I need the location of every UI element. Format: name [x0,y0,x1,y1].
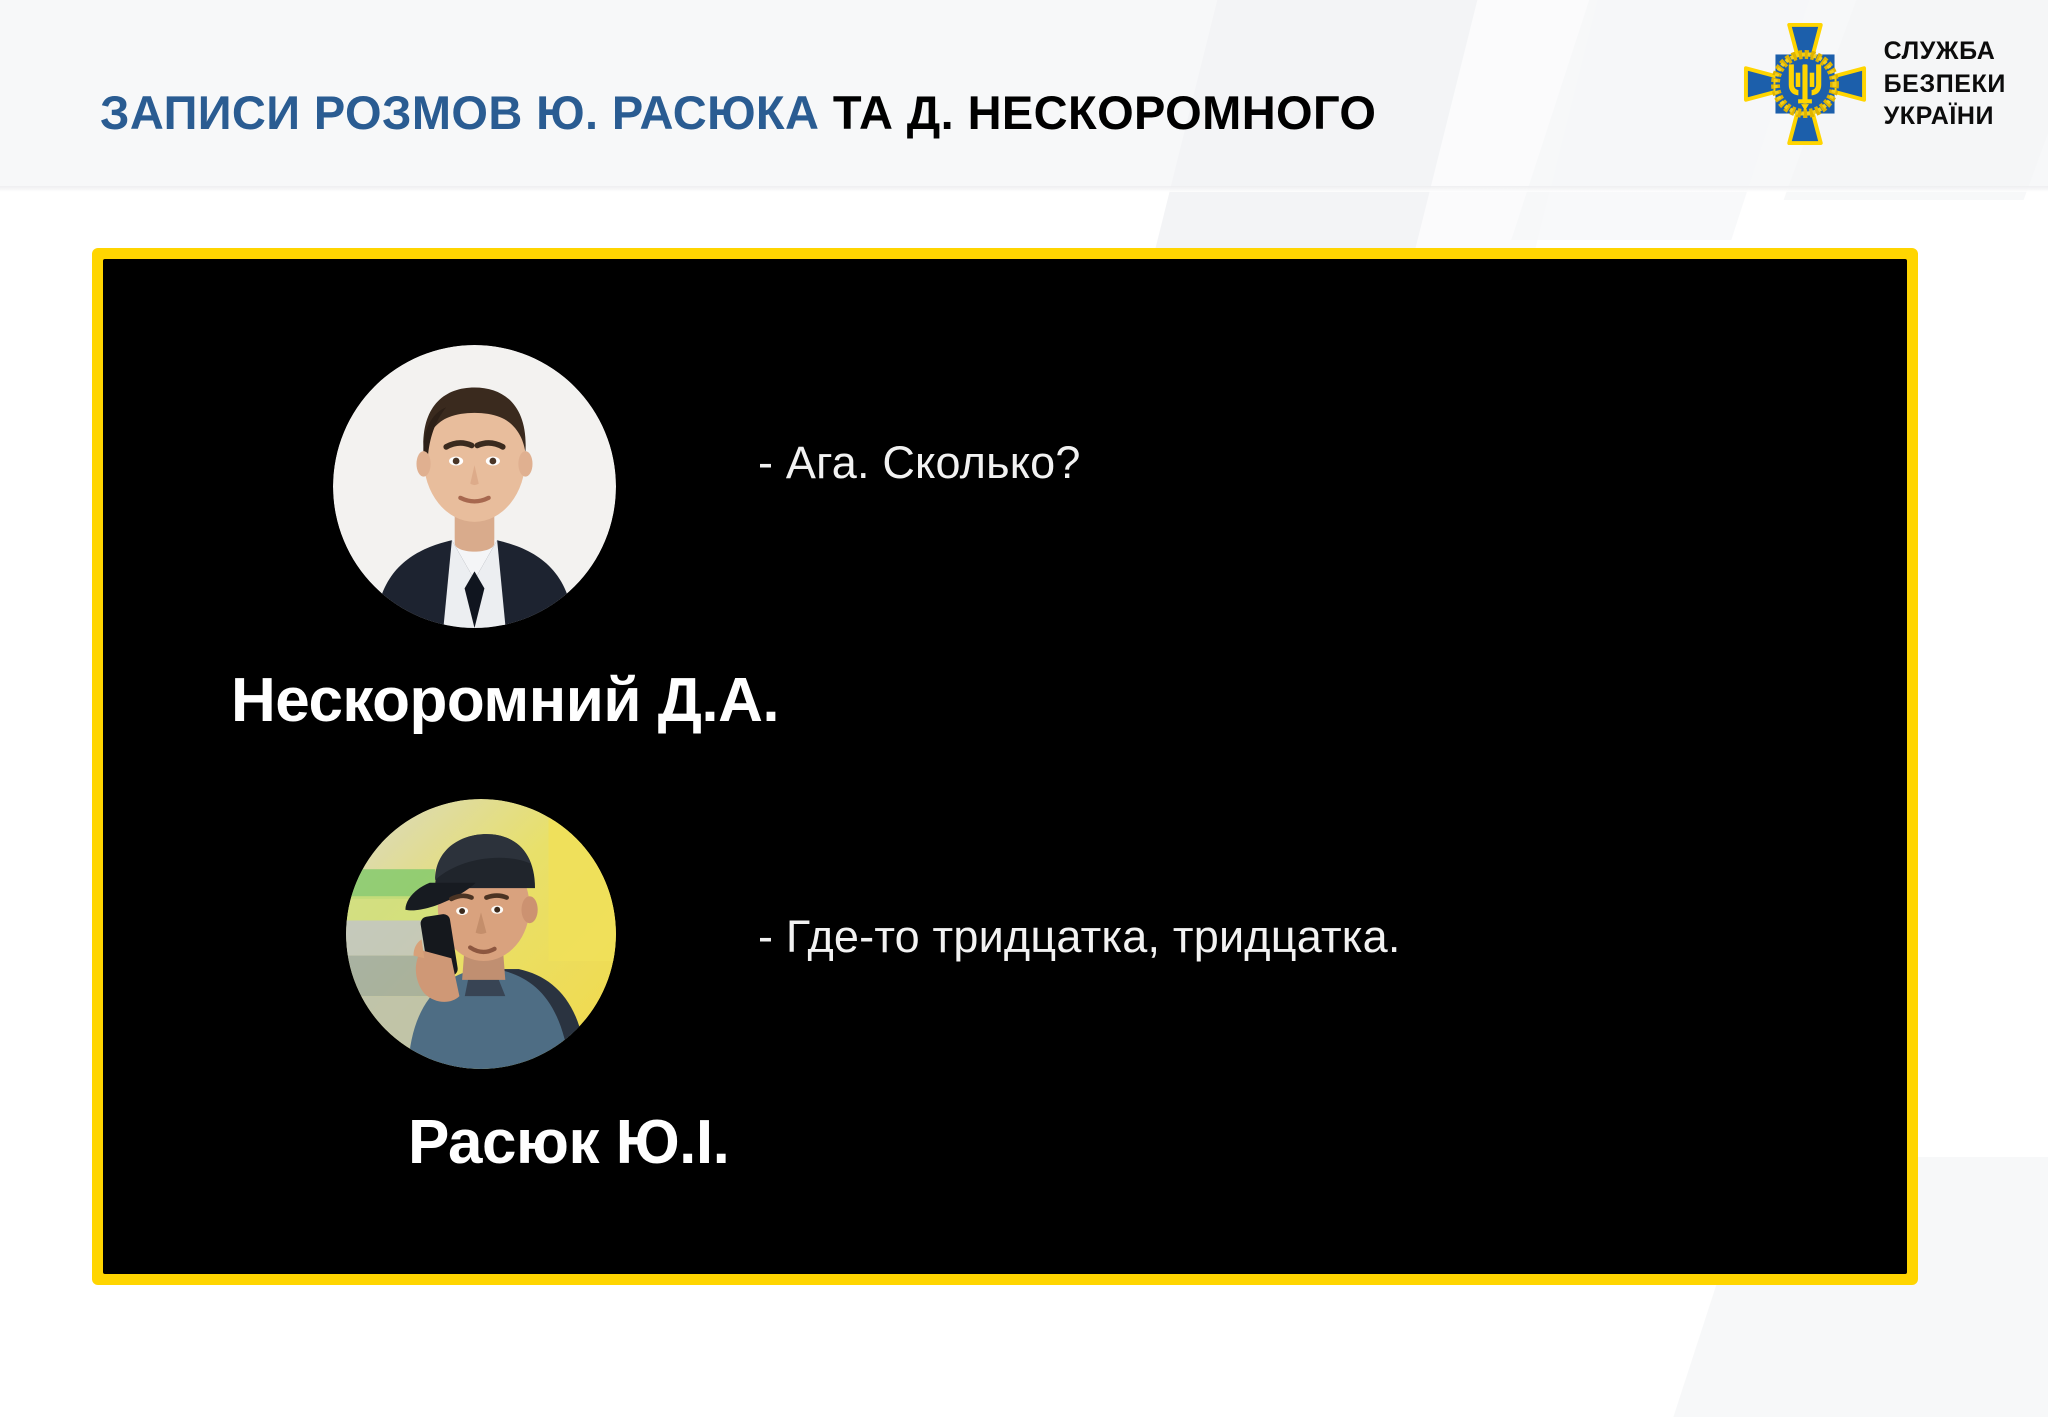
sbu-emblem-icon [1742,21,1868,147]
sbu-logo-line-3: УКРАЇНИ [1884,100,2006,133]
dialogue-line-1: - Ага. Сколько? [758,437,1081,489]
avatar-neskoromnyi [333,345,616,628]
speaker-name-1: Нескоромний Д.А. [231,665,779,736]
sbu-logo-text: СЛУЖБА БЕЗПЕКИ УКРАЇНИ [1884,35,2006,133]
page-title-primary: ЗАПИСИ РОЗМОВ Ю. РАСЮКА [100,86,819,139]
sbu-logo-line-2: БЕЗПЕКИ [1884,68,2006,101]
sbu-logo-line-1: СЛУЖБА [1884,35,2006,68]
avatar-rasiuk [346,799,616,1069]
slide-header: ЗАПИСИ РОЗМОВ Ю. РАСЮКА ТА Д. НЕСКОРОМНО… [0,0,2048,190]
evidence-screen: Нескоромний Д.А. - Ага. Сколько? [103,259,1907,1274]
page-title-secondary: ТА Д. НЕСКОРОМНОГО [819,86,1376,139]
dialogue-line-2: - Где-то тридцатка, тридцатка. [758,911,1401,963]
page-title: ЗАПИСИ РОЗМОВ Ю. РАСЮКА ТА Д. НЕСКОРОМНО… [100,87,1376,140]
evidence-frame: Нескоромний Д.А. - Ага. Сколько? [92,248,1918,1285]
speaker-name-2: Расюк Ю.І. [408,1107,729,1178]
sbu-logo: СЛУЖБА БЕЗПЕКИ УКРАЇНИ [1742,18,2006,150]
slide-root: ЗАПИСИ РОЗМОВ Ю. РАСЮКА ТА Д. НЕСКОРОМНО… [0,0,2048,1417]
